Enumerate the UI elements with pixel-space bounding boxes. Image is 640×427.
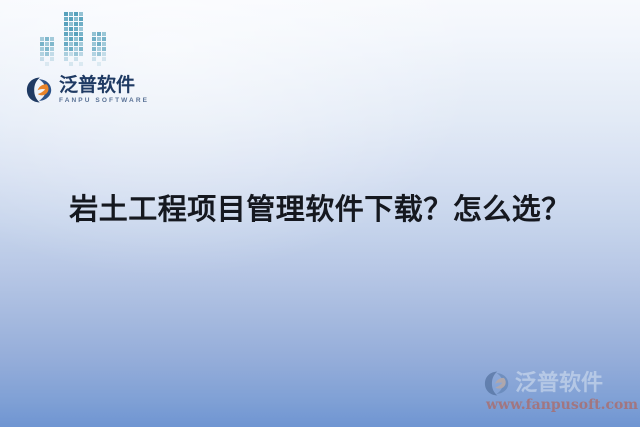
watermark-logo: 泛普软件	[484, 371, 632, 396]
promo-banner: 泛普软件 FANPU SOFTWARE 岩土工程项目管理软件下载？怎么选？ 泛普…	[0, 0, 640, 427]
watermark-url: www.fanpusoft.com	[486, 397, 632, 413]
watermark-text-cn: 泛普软件	[515, 373, 603, 395]
brand-block: 泛普软件 FANPU SOFTWARE	[26, 8, 161, 108]
fanpu-logo-text-en: FANPU SOFTWARE	[59, 98, 149, 105]
pixel-skyline-graphic	[34, 8, 120, 74]
fanpu-logo-text-cn: 泛普软件	[59, 76, 149, 95]
watermark-logo-mark-icon	[484, 371, 511, 396]
fanpu-logo: 泛普软件 FANPU SOFTWARE	[26, 76, 149, 105]
fanpu-logo-mark-icon	[26, 77, 54, 103]
page-title: 岩土工程项目管理软件下载？怎么选？	[0, 186, 640, 228]
watermark: 泛普软件 www.fanpusoft.com	[484, 371, 632, 413]
